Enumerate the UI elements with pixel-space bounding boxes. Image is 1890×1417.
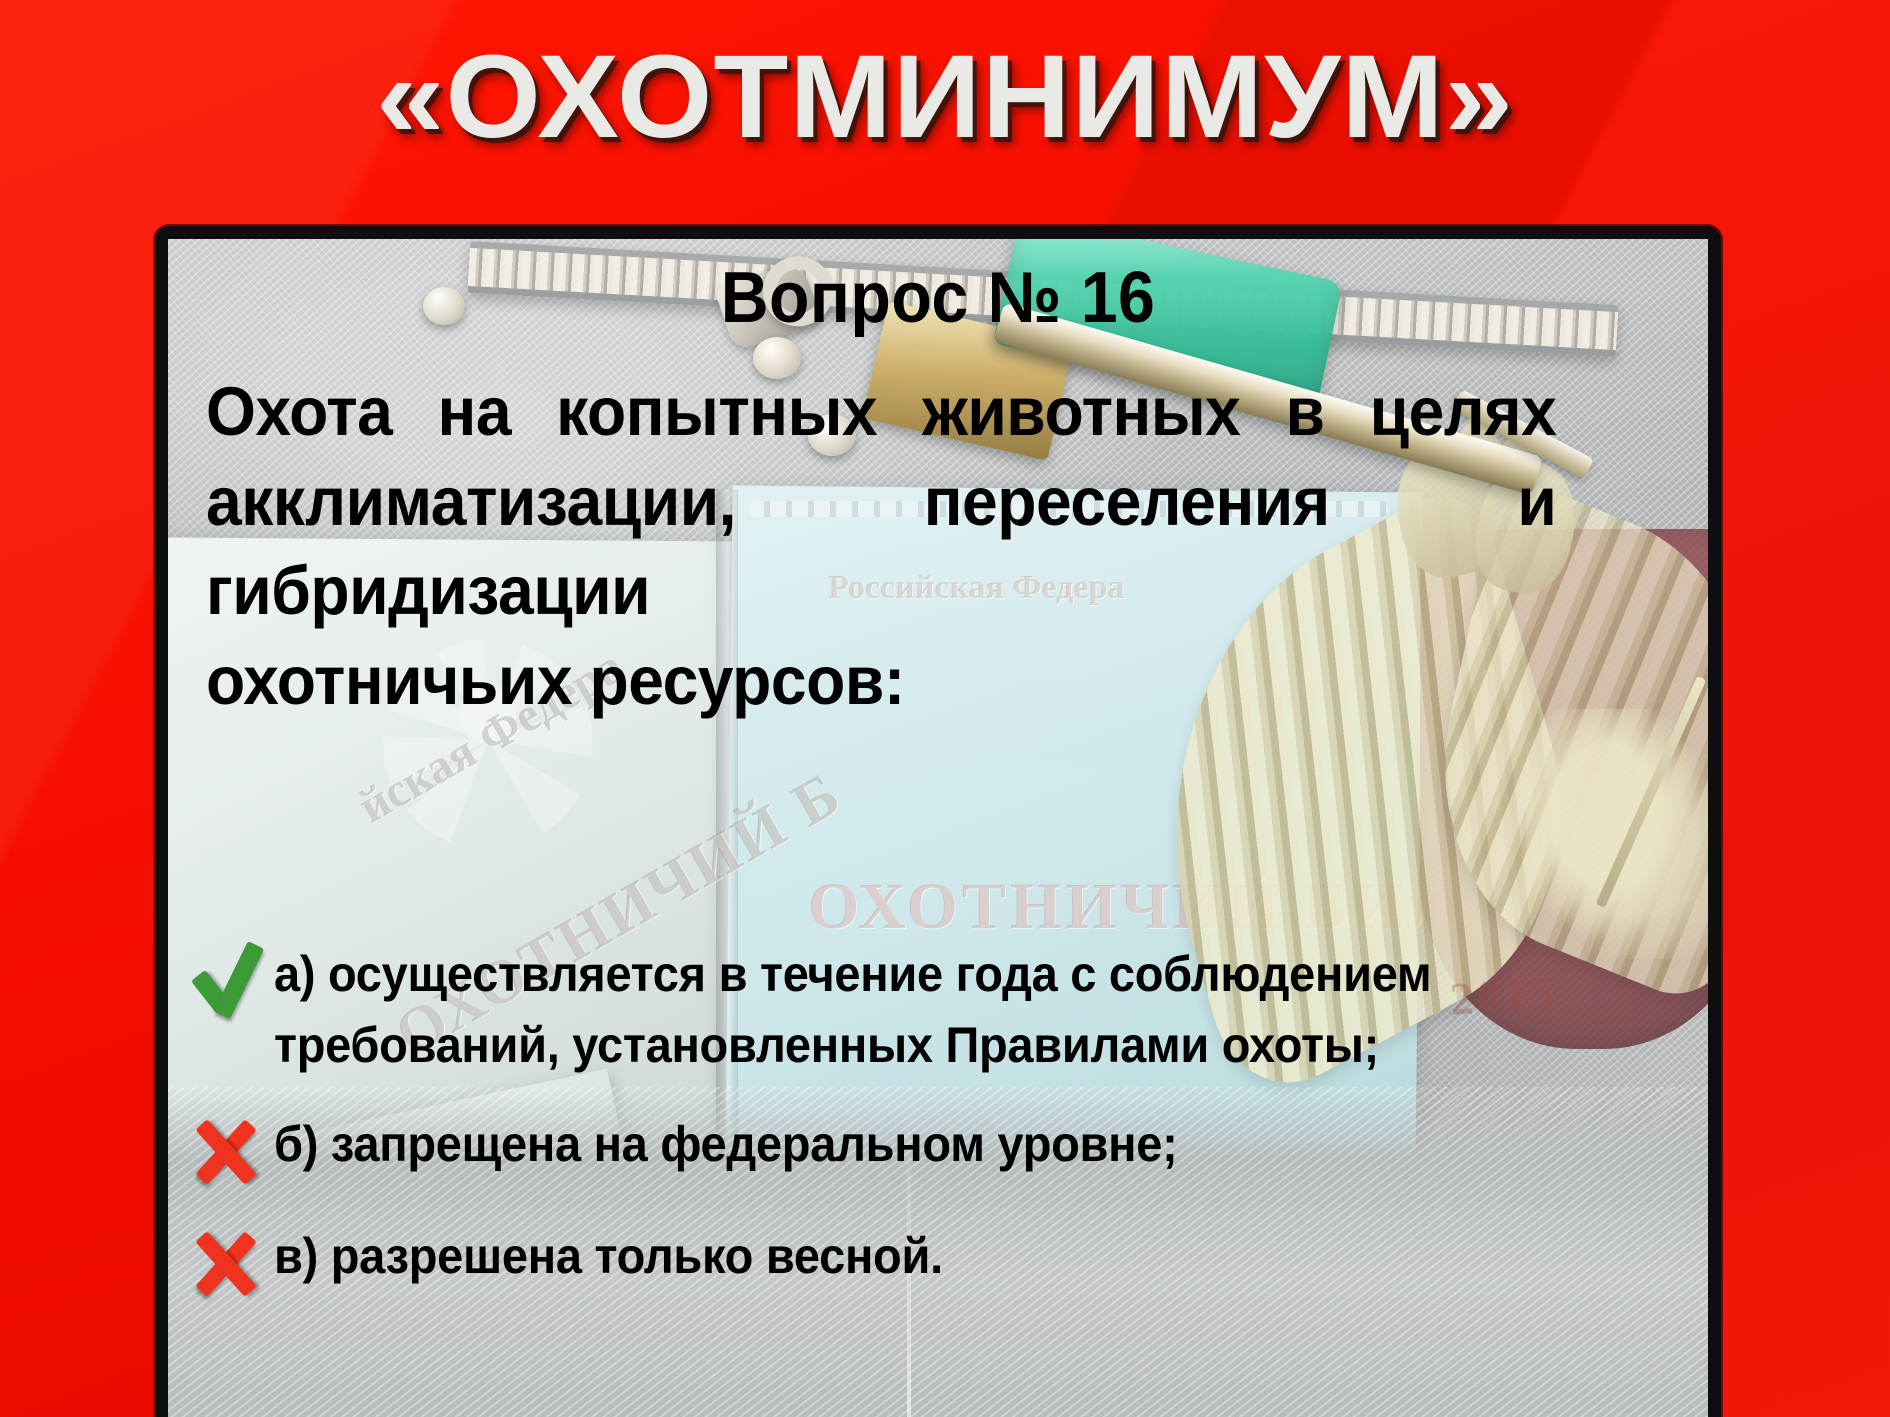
answer-option-b-label: б) запрещена на федеральном уровне; <box>274 1109 1177 1180</box>
question-card: Российская Федера йская Федера ОХОТНИЧИЙ… <box>155 226 1721 1417</box>
question-text: Охота на копытных животных в целях аккли… <box>206 367 1556 726</box>
question-card-inner: Российская Федера йская Федера ОХОТНИЧИЙ… <box>168 239 1708 1417</box>
answer-option-b[interactable]: б) запрещена на федеральном уровне; <box>190 1109 1680 1193</box>
question-text-line-1: Охота на копытных животных в <box>206 373 1325 450</box>
answer-option-a[interactable]: а) осуществляется в течение года с соблю… <box>190 939 1680 1081</box>
question-number: Вопрос № 16 <box>230 261 1647 337</box>
page-title: «ОХОТМИНИМУМ» <box>0 38 1890 156</box>
question-text-line-4: охотничьих ресурсов: <box>206 636 1556 726</box>
answer-list: а) осуществляется в течение года с соблю… <box>190 939 1680 1333</box>
question-content: Вопрос № 16 Охота на копытных животных в… <box>168 239 1708 1417</box>
answer-option-v-label: в) разрешена только весной. <box>274 1221 943 1292</box>
cross-icon <box>190 1227 264 1305</box>
cross-icon <box>190 1115 264 1193</box>
check-icon <box>190 945 264 1023</box>
answer-option-a-label: а) осуществляется в течение года с соблю… <box>274 939 1596 1081</box>
answer-option-v[interactable]: в) разрешена только весной. <box>190 1221 1680 1305</box>
